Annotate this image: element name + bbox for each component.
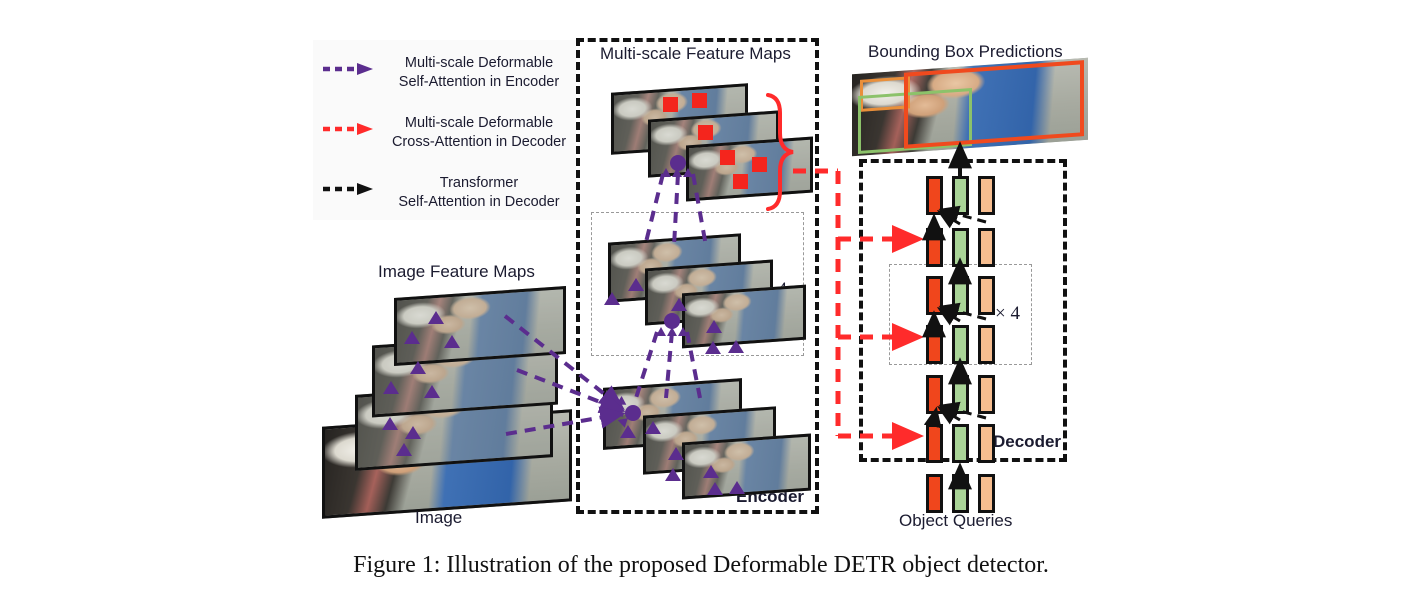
output-sampling-marker: [698, 125, 713, 140]
sampling-point-triangle: [424, 385, 440, 398]
decoder-token-orange: [926, 325, 943, 364]
legend-label-line2: Self-Attention in Decoder: [381, 193, 577, 212]
sampling-point-triangle: [620, 425, 636, 438]
encoder-sampling-arrow: [656, 327, 666, 336]
output-sampling-marker: [720, 150, 735, 165]
sampling-point-triangle: [665, 468, 681, 481]
object-queries-label: Object Queries: [899, 511, 1012, 531]
decoder-token-orange: [926, 228, 943, 267]
decoder-token-peach: [978, 424, 995, 463]
decoder-token-green: [952, 325, 969, 364]
sampling-point-triangle: [628, 278, 644, 291]
multiscale-feature-maps-title: Multi-scale Feature Maps: [600, 44, 791, 64]
sampling-point-triangle: [668, 447, 684, 460]
decoder-token-orange: [926, 424, 943, 463]
sampling-point-triangle: [405, 426, 421, 439]
legend-label-line2: Cross-Attention in Decoder: [381, 133, 577, 152]
decoder-token-green: [952, 424, 969, 463]
image-feature-map-level-1: [394, 286, 566, 366]
object-query-orange: [926, 474, 943, 513]
sampling-point-triangle: [707, 482, 723, 495]
object-query-green: [952, 474, 969, 513]
legend-label-line2: Self-Attention in Encoder: [381, 73, 577, 92]
image-feature-maps-title: Image Feature Maps: [378, 262, 535, 282]
sampling-point-triangle: [706, 320, 722, 333]
sampling-point-triangle: [671, 298, 687, 311]
sampling-point-triangle: [383, 381, 399, 394]
legend-arrow-purple-icon: [321, 62, 377, 76]
decoder-token-green: [952, 176, 969, 215]
legend-arrow-black-icon: [321, 182, 377, 196]
bbox-overlay: [856, 58, 1088, 158]
decoder-token-orange: [926, 176, 943, 215]
decoder-token-peach: [978, 375, 995, 414]
output-sampling-marker: [692, 93, 707, 108]
decoder-token-green: [952, 276, 969, 315]
sampling-point-triangle: [604, 292, 620, 305]
bounding-box-predictions-title: Bounding Box Predictions: [868, 42, 1063, 62]
encoder-sampling-arrow: [672, 168, 682, 177]
sampling-point-triangle: [382, 417, 398, 430]
output-sampling-marker: [752, 157, 767, 172]
output-sampling-marker: [663, 97, 678, 112]
decoder-repeat-label: × 4: [995, 303, 1020, 325]
sampling-point-triangle: [645, 421, 661, 434]
legend-label-line1: Transformer: [381, 174, 577, 193]
decoder-token-peach: [978, 176, 995, 215]
encoder-sampling-arrow: [683, 168, 693, 177]
sampling-point-triangle: [444, 335, 460, 348]
encoder-sampling-arrow: [661, 168, 671, 177]
encoder-sampling-arrow: [667, 327, 677, 336]
decoder-token-orange: [926, 375, 943, 414]
sampling-point-triangle: [729, 481, 745, 494]
encoder-input-map-3: [682, 433, 811, 499]
decoder-token-orange: [926, 276, 943, 315]
sampling-point-triangle: [705, 341, 721, 354]
image-label: Image: [415, 508, 462, 528]
sampling-point-triangle: [396, 443, 412, 456]
sampling-point-triangle: [404, 331, 420, 344]
decoder-token-peach: [978, 228, 995, 267]
decoder-token-peach: [978, 325, 995, 364]
legend-label-line1: Multi-scale Deformable: [381, 54, 577, 73]
figure-caption: Figure 1: Illustration of the proposed D…: [0, 552, 1402, 579]
object-query-peach: [978, 474, 995, 513]
decoder-token-peach: [978, 276, 995, 315]
decoder-token-green: [952, 228, 969, 267]
encoder-sampling-arrow: [678, 327, 688, 336]
decoder-label: Decoder: [993, 432, 1061, 452]
output-sampling-marker: [733, 174, 748, 189]
figure-deformable-detr: Multi-scale Deformable Self-Attention in…: [0, 0, 1402, 599]
decoder-token-green: [952, 375, 969, 414]
legend-arrow-red-icon: [321, 122, 377, 136]
multiscale-output-map-3: [686, 137, 813, 202]
sampling-point-triangle: [428, 311, 444, 324]
sampling-point-triangle: [703, 465, 719, 478]
legend-label-line1: Multi-scale Deformable: [381, 114, 577, 133]
legend: Multi-scale Deformable Self-Attention in…: [313, 40, 578, 220]
bbox-player-right: [904, 60, 1084, 149]
sampling-point-triangle: [728, 340, 744, 353]
encoder-layer-map-3: [682, 285, 806, 349]
sampling-point-triangle: [410, 361, 426, 374]
